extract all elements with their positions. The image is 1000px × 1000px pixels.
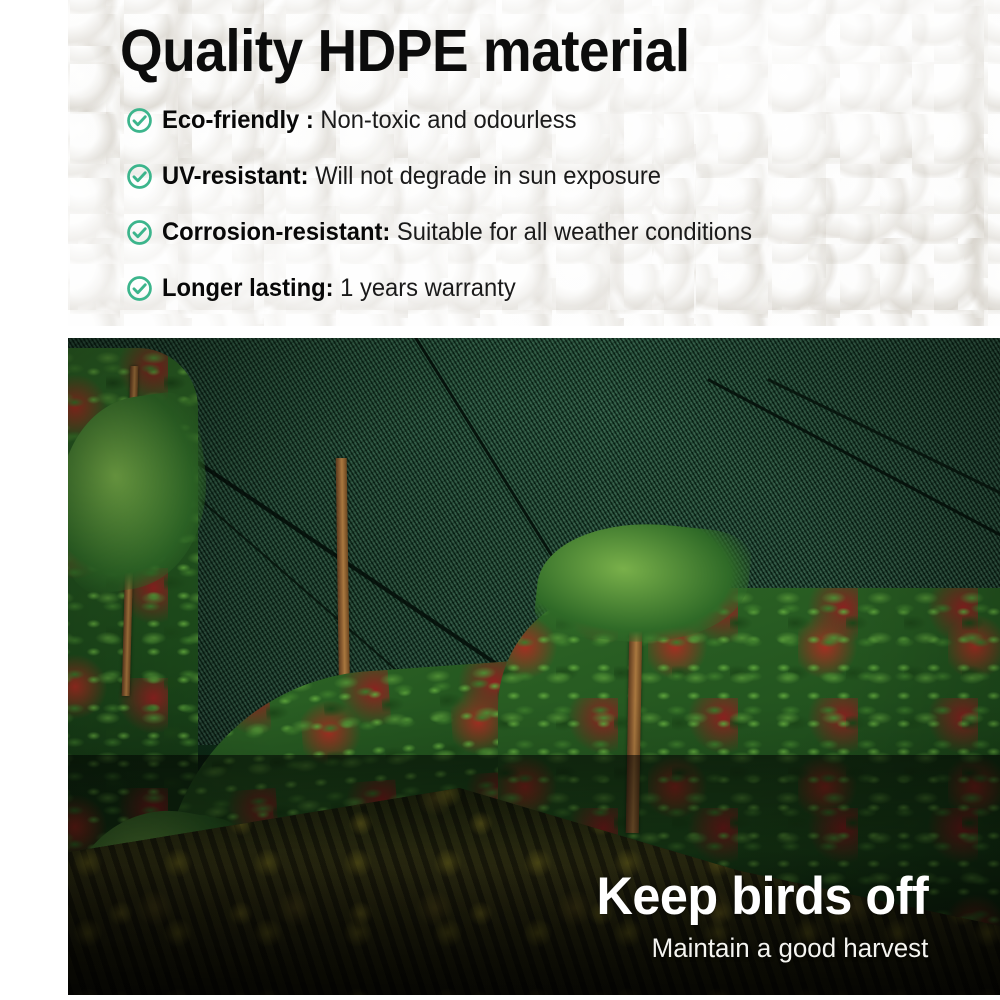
feature-term: Eco-friendly : (162, 106, 314, 134)
check-circle-icon (126, 219, 153, 246)
photo-vignette (68, 338, 1000, 995)
feature-text: Longer lasting: 1 years warranty (162, 274, 516, 302)
feature-description: Will not degrade in sun exposure (315, 162, 661, 190)
feature-description: Non-toxic and odourless (320, 106, 576, 134)
feature-term: Corrosion-resistant: (162, 218, 390, 246)
feature-description: 1 years warranty (340, 274, 516, 302)
orchard-photo (68, 338, 1000, 995)
feature-text: Corrosion-resistant: Suitable for all we… (162, 218, 752, 246)
list-item: Eco-friendly : Non-toxic and odourless (126, 92, 966, 148)
feature-description: Suitable for all weather conditions (397, 218, 752, 246)
top-content-overlay: Quality HDPE material Eco-friendly : Non… (0, 0, 1000, 326)
page-title: Quality HDPE material (120, 20, 690, 82)
feature-list: Eco-friendly : Non-toxic and odourless U… (126, 92, 966, 316)
list-item: Corrosion-resistant: Suitable for all we… (126, 204, 966, 260)
feature-text: UV-resistant: Will not degrade in sun ex… (162, 162, 661, 190)
list-item: Longer lasting: 1 years warranty (126, 260, 966, 316)
feature-text: Eco-friendly : Non-toxic and odourless (162, 106, 576, 134)
feature-term: Longer lasting: (162, 274, 334, 302)
list-item: UV-resistant: Will not degrade in sun ex… (126, 148, 966, 204)
feature-term: UV-resistant: (162, 162, 309, 190)
check-circle-icon (126, 107, 153, 134)
orchard-photo-panel: Keep birds off Maintain a good harvest (68, 338, 1000, 995)
check-circle-icon (126, 275, 153, 302)
product-feature-image: Quality HDPE material Eco-friendly : Non… (0, 0, 1000, 1000)
check-circle-icon (126, 163, 153, 190)
